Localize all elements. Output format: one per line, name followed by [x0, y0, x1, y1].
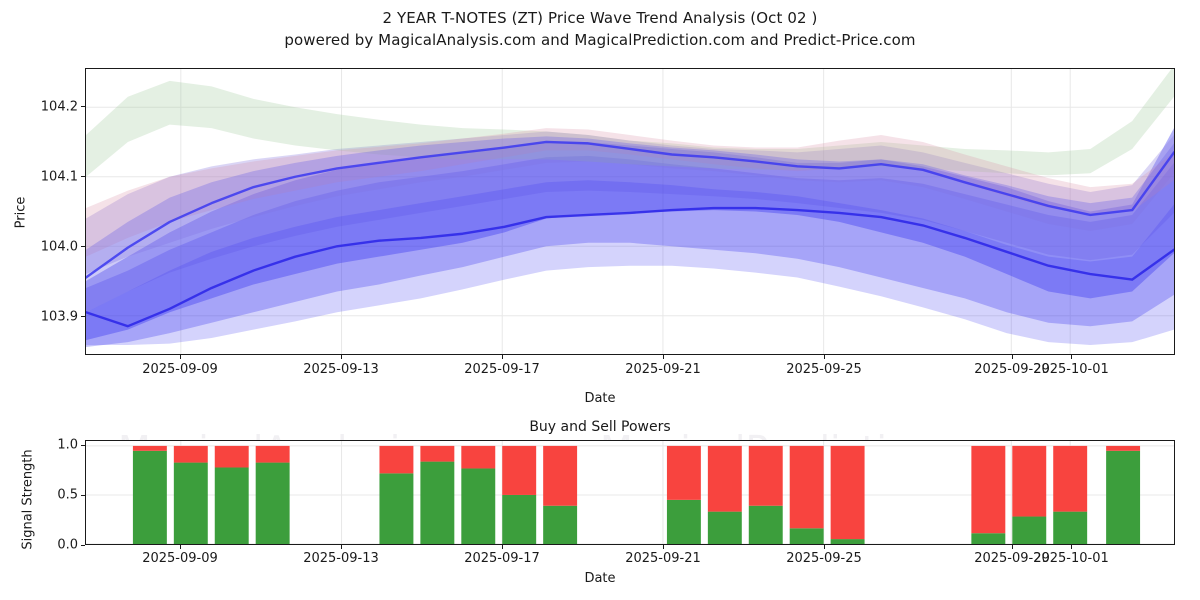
price-x-tick-label: 2025-09-17 — [464, 362, 540, 377]
price-x-tick-label: 2025-09-21 — [625, 362, 701, 377]
price-y-tick-mark — [81, 176, 85, 177]
price-x-tick-mark — [1071, 355, 1072, 359]
price-wave-plot-area — [85, 68, 1175, 355]
buy-power-bar — [256, 463, 290, 544]
buy-power-bar — [502, 495, 536, 544]
signal-y-tick-mark — [81, 495, 85, 496]
signal-y-axis-title: Signal Strength — [21, 445, 36, 555]
price-x-tick-label: 2025-09-09 — [142, 362, 218, 377]
price-y-tick-label: 104.1 — [41, 169, 78, 184]
price-x-tick-mark — [1012, 355, 1013, 359]
price-y-tick-mark — [81, 106, 85, 107]
buy-power-bar — [831, 539, 865, 544]
price-y-tick-mark — [81, 246, 85, 247]
sell-power-bar — [790, 446, 824, 528]
buy-power-bar — [133, 451, 167, 544]
price-y-tick-mark — [81, 316, 85, 317]
buy-power-bar — [708, 512, 742, 544]
signal-y-tick-label: 1.0 — [57, 438, 78, 453]
buy-power-bar — [790, 528, 824, 544]
buy-power-bar — [1053, 512, 1087, 544]
buy-power-bar — [543, 506, 577, 544]
signal-x-tick-label: 2025-10-01 — [1033, 551, 1109, 566]
signal-x-tick-label: 2025-09-21 — [625, 551, 701, 566]
price-y-tick-label: 103.9 — [41, 309, 78, 324]
price-x-tick-mark — [502, 355, 503, 359]
figure-root: MagicalAnalysis.com MagicalPrediction.co… — [0, 0, 1200, 600]
sell-power-bar — [174, 446, 208, 463]
sell-power-bar — [502, 446, 536, 495]
sell-power-bar — [133, 446, 167, 451]
signal-chart-title: Buy and Sell Powers — [0, 419, 1200, 435]
sell-power-bar — [215, 446, 249, 468]
signal-x-tick-mark — [663, 545, 664, 549]
signal-x-tick-label: 2025-09-25 — [786, 551, 862, 566]
figure-title: 2 YEAR T-NOTES (ZT) Price Wave Trend Ana… — [0, 9, 1200, 27]
buy-power-bar — [215, 467, 249, 544]
signal-x-tick-label: 2025-09-13 — [303, 551, 379, 566]
signal-x-tick-mark — [1012, 545, 1013, 549]
price-x-tick-label: 2025-09-13 — [303, 362, 379, 377]
signal-x-tick-mark — [502, 545, 503, 549]
signal-x-tick-label: 2025-09-17 — [464, 551, 540, 566]
sell-power-bar — [461, 446, 495, 469]
price-x-tick-label: 2025-09-25 — [786, 362, 862, 377]
sell-power-bar — [420, 446, 454, 462]
buy-sell-powers-plot-area — [85, 440, 1175, 545]
sell-power-bar — [971, 446, 1005, 533]
price-y-axis-title: Price — [14, 183, 29, 243]
signal-x-tick-mark — [180, 545, 181, 549]
price-x-tick-mark — [824, 355, 825, 359]
price-x-tick-mark — [341, 355, 342, 359]
signal-x-tick-mark — [1071, 545, 1072, 549]
buy-power-bar — [174, 463, 208, 544]
figure-subtitle: powered by MagicalAnalysis.com and Magic… — [0, 31, 1200, 49]
buy-power-bar — [1012, 517, 1046, 544]
signal-y-tick-mark — [81, 445, 85, 446]
sell-power-bar — [379, 446, 413, 473]
sell-power-bar — [1053, 446, 1087, 512]
sell-power-bar — [667, 446, 701, 500]
price-y-tick-label: 104.2 — [41, 99, 78, 114]
sell-power-bar — [543, 446, 577, 506]
buy-power-bar — [420, 462, 454, 544]
sell-power-bar — [1106, 446, 1140, 451]
buy-power-bar — [379, 473, 413, 544]
price-x-tick-mark — [663, 355, 664, 359]
sell-power-bar — [831, 446, 865, 539]
price-x-axis-title: Date — [0, 391, 1200, 406]
signal-y-tick-mark — [81, 545, 85, 546]
signal-x-axis-title: Date — [0, 571, 1200, 586]
sell-power-bar — [708, 446, 742, 512]
price-y-tick-label: 104.0 — [41, 239, 78, 254]
buy-power-bar — [971, 533, 1005, 544]
price-x-tick-mark — [180, 355, 181, 359]
signal-x-tick-label: 2025-09-09 — [142, 551, 218, 566]
buy-power-bar — [749, 506, 783, 544]
buy-power-bar — [461, 468, 495, 544]
signal-x-tick-mark — [341, 545, 342, 549]
buy-power-bar — [1106, 451, 1140, 544]
sell-power-bar — [1012, 446, 1046, 517]
signal-y-tick-label: 0.5 — [57, 488, 78, 503]
signal-y-tick-label: 0.0 — [57, 538, 78, 553]
sell-power-bar — [256, 446, 290, 463]
signal-x-tick-mark — [824, 545, 825, 549]
price-x-tick-label: 2025-10-01 — [1033, 362, 1109, 377]
buy-power-bar — [667, 500, 701, 544]
sell-power-bar — [749, 446, 783, 506]
